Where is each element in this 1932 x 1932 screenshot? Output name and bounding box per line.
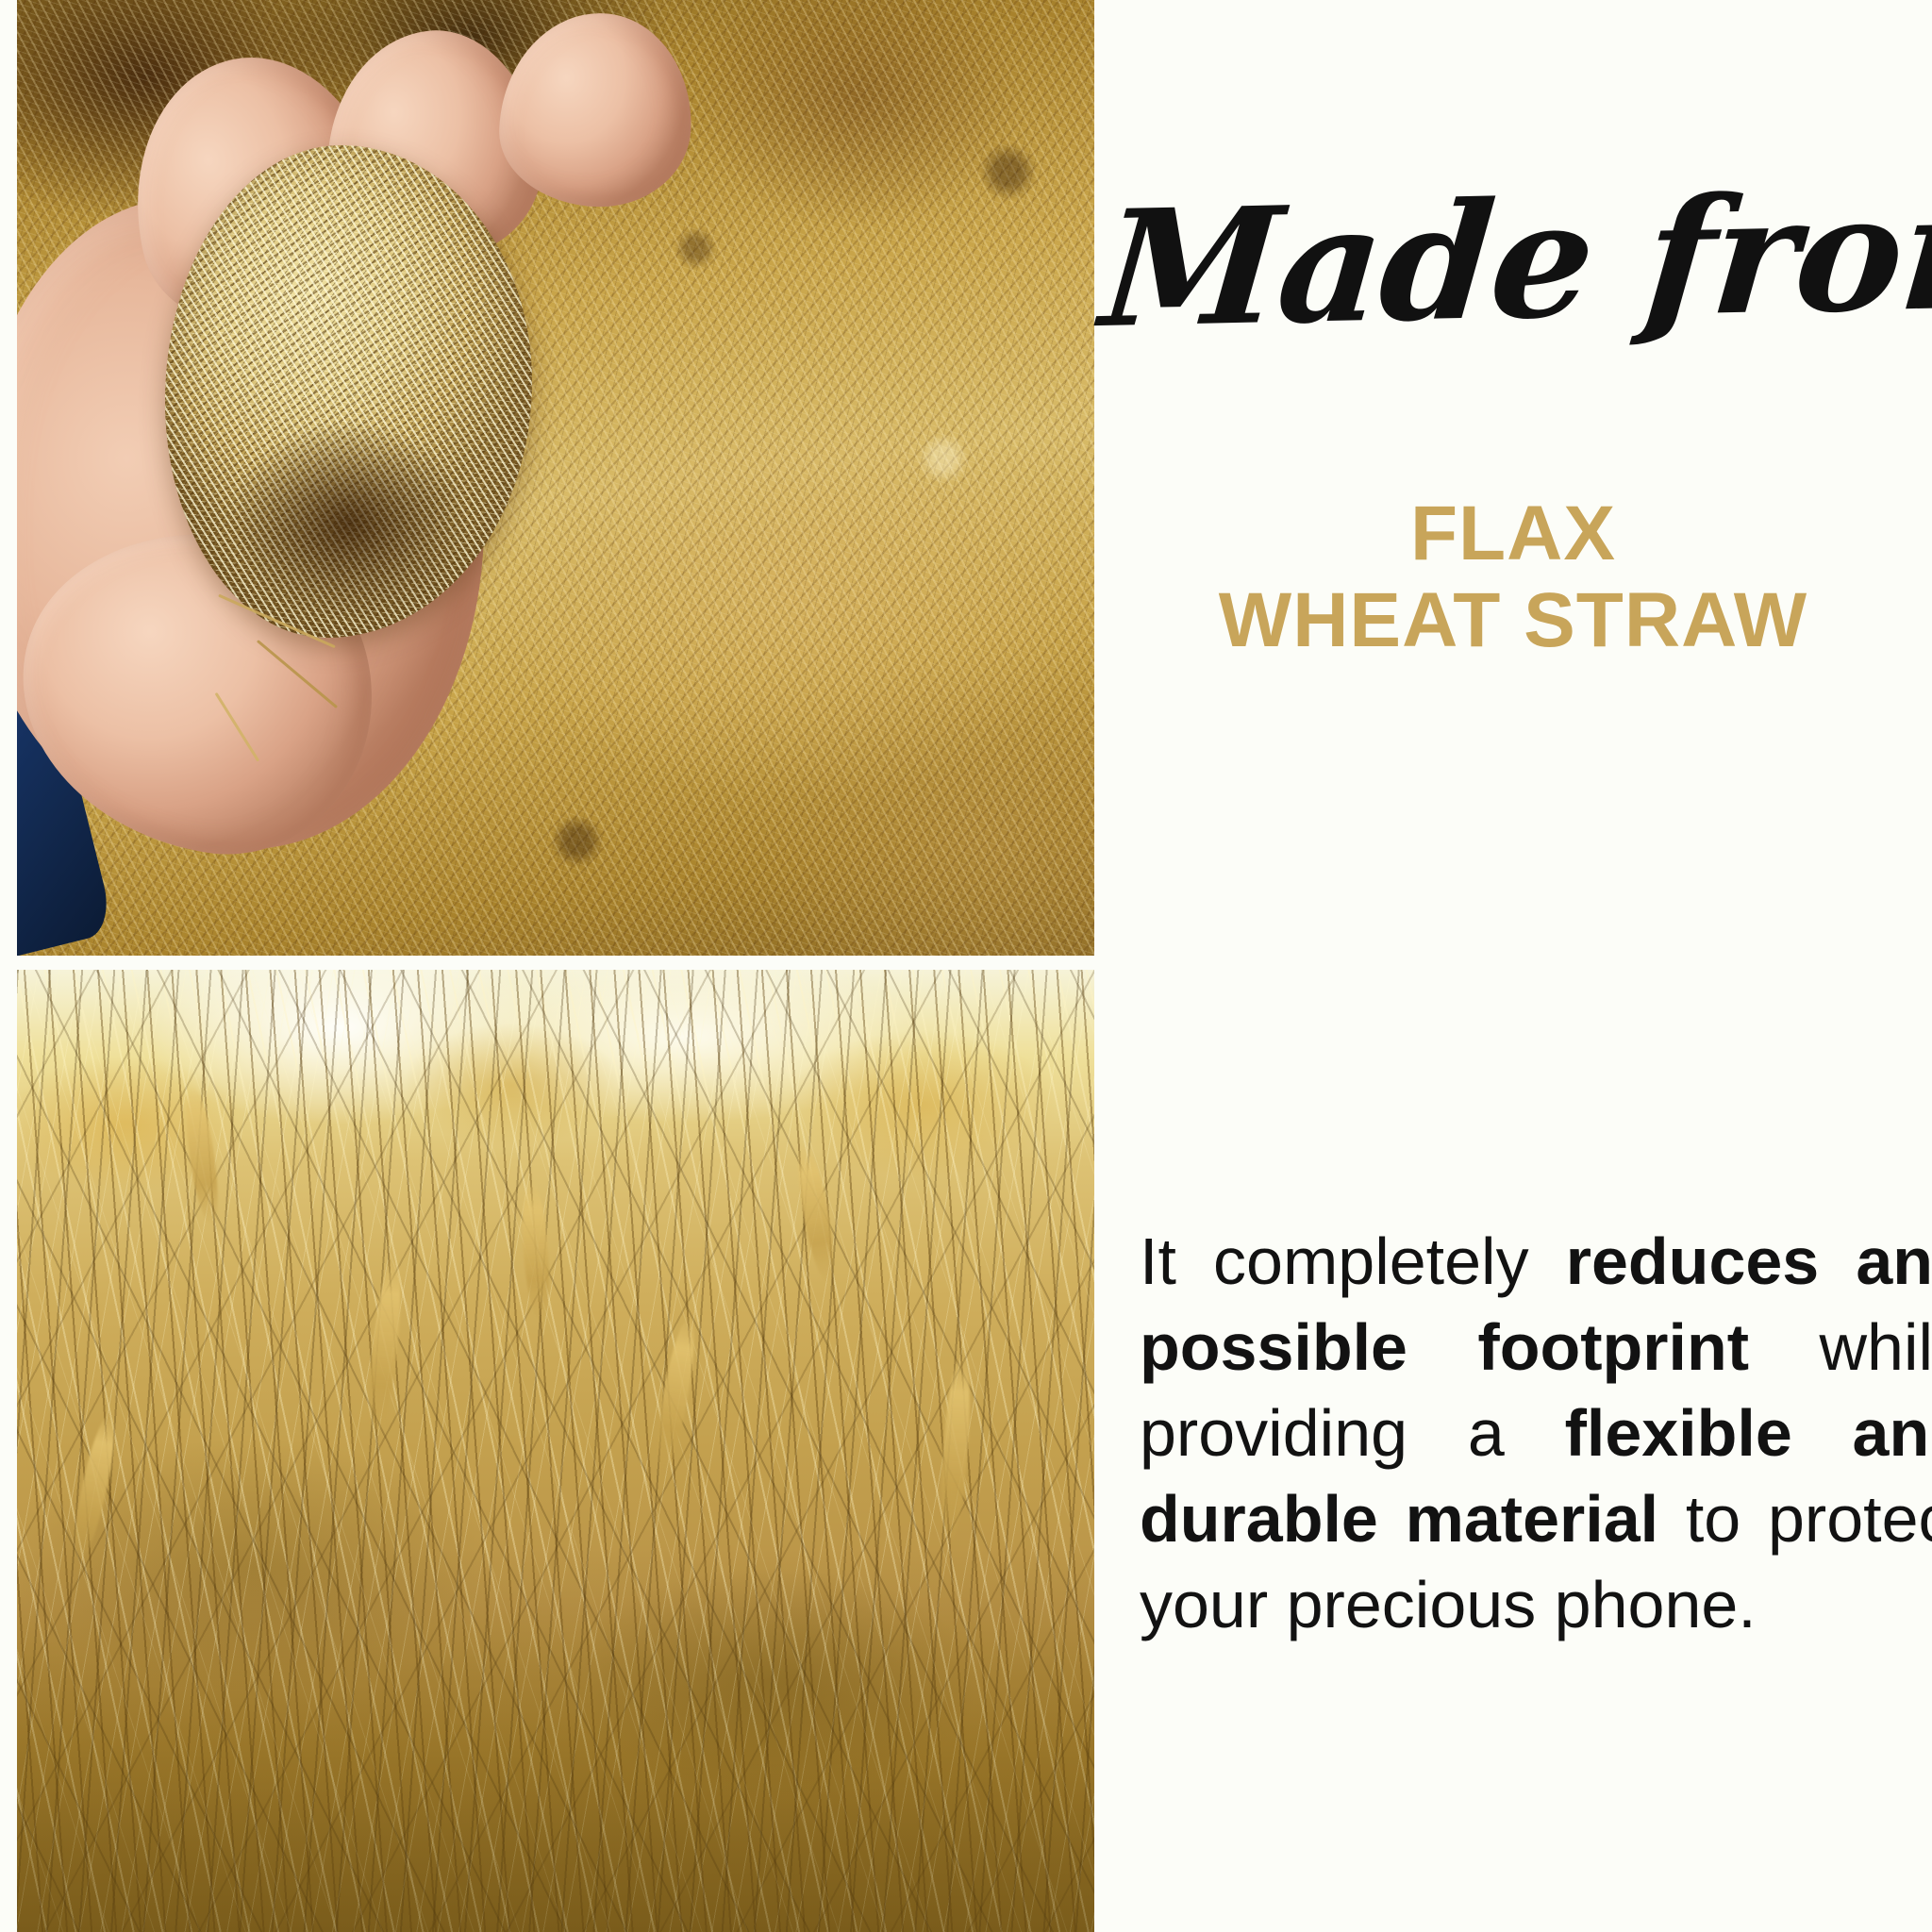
hand-illustration [17,58,771,937]
photo-wheat-field [17,970,1094,1932]
photo-column [17,0,1094,1932]
field-bottom-shadow [17,1547,1094,1932]
subtitle-line-flax: FLAX [1104,491,1923,577]
poster-canvas: Made from FLAX WHEAT STRAW It completely… [0,0,1932,1932]
photo-hand-holding-straw [17,0,1094,956]
subtitle-line-wheat-straw: WHEAT STRAW [1104,577,1923,664]
straw-chaff-handful [165,145,532,638]
body-text-part-1: It completely [1140,1224,1566,1298]
material-subtitle: FLAX WHEAT STRAW [1104,491,1923,664]
chaff-shadow [209,381,488,618]
text-column: Made from FLAX WHEAT STRAW It completely… [1094,0,1932,1932]
body-paragraph: It completely reduces any possible footp… [1140,1219,1932,1648]
headline-script: Made from [1096,169,1931,355]
